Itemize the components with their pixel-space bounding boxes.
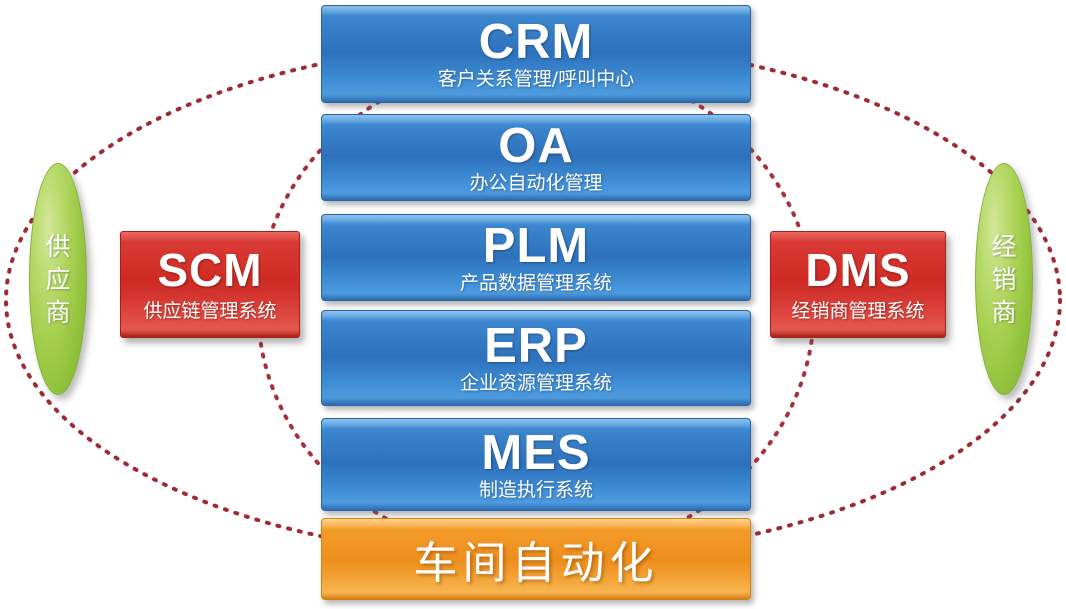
erp-bar[interactable]: ERP 企业资源管理系统 [321,310,751,406]
crm-bar[interactable]: CRM 客户关系管理/呼叫中心 [321,5,751,103]
erp-acronym: ERP [484,322,588,371]
plm-bar[interactable]: PLM 产品数据管理系统 [321,214,751,301]
oa-acronym: OA [498,122,574,171]
dms-box[interactable]: DMS 经销商管理系统 [770,231,946,338]
erp-subtitle: 企业资源管理系统 [460,373,612,394]
scm-subtitle: 供应链管理系统 [143,296,276,323]
supplier-oval[interactable]: 供应商 [29,163,87,395]
dms-acronym: DMS [805,247,910,293]
dealer-oval[interactable]: 经销商 [975,163,1033,395]
diagram-canvas: 供应商 SCM 供应链管理系统 CRM 客户关系管理/呼叫中心 OA 办公自动化… [0,0,1066,609]
plm-subtitle: 产品数据管理系统 [460,273,612,294]
dealer-label: 经销商 [991,230,1016,329]
scm-acronym: SCM [157,247,262,293]
workshop-automation-label: 车间自动化 [414,527,659,591]
core-system-stack: CRM 客户关系管理/呼叫中心 OA 办公自动化管理 PLM 产品数据管理系统 … [321,0,751,609]
oa-subtitle: 办公自动化管理 [469,173,602,194]
crm-acronym: CRM [479,18,594,67]
dms-subtitle: 经销商管理系统 [791,296,924,323]
plm-acronym: PLM [483,222,589,271]
mes-acronym: MES [481,429,590,478]
crm-subtitle: 客户关系管理/呼叫中心 [438,69,634,90]
mes-bar[interactable]: MES 制造执行系统 [321,418,751,511]
supplier-label: 供应商 [45,230,70,329]
workshop-automation-bar[interactable]: 车间自动化 [321,518,751,600]
scm-box[interactable]: SCM 供应链管理系统 [120,231,300,338]
oa-bar[interactable]: OA 办公自动化管理 [321,114,751,201]
mes-subtitle: 制造执行系统 [479,480,593,501]
